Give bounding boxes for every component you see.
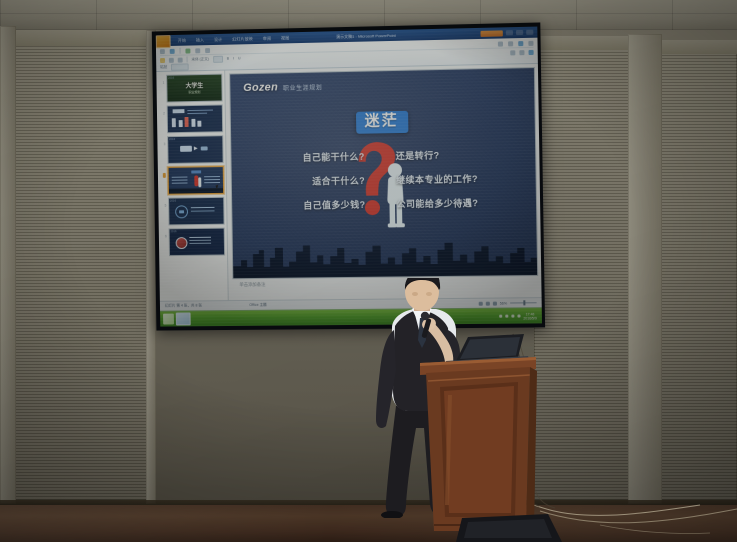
soffit-center-right xyxy=(528,36,636,50)
thumb-left-lines xyxy=(172,177,188,178)
thumb-symbol: ▶ xyxy=(194,146,198,152)
wooden-podium xyxy=(418,355,538,535)
pillar-right xyxy=(628,34,662,504)
logo-subtitle: 职业生涯规划 xyxy=(283,82,323,92)
current-slide[interactable]: Gozen 职业生涯规划 迷茫 xyxy=(230,68,537,278)
font-size-box[interactable] xyxy=(213,55,223,62)
status-theme[interactable]: Office 主题 xyxy=(249,303,266,308)
reset-icon[interactable] xyxy=(195,48,200,53)
ribbon-tab-slideshow[interactable]: 幻灯片放映 xyxy=(232,36,253,42)
taskbar-clock[interactable]: 17:46 2016/5/9 xyxy=(523,312,537,320)
thumb-image[interactable]: 2016 xyxy=(168,197,225,226)
thumb-line xyxy=(189,237,211,238)
thumb-line xyxy=(191,207,215,209)
floor-speaker xyxy=(452,512,568,542)
thumbnail-slide-3[interactable]: 3 2016 ▶ xyxy=(162,135,223,164)
paste-icon[interactable] xyxy=(160,49,165,54)
thumb-title-badge xyxy=(191,170,201,173)
question-line: 公司能给多少待遇? xyxy=(396,196,478,210)
window-title: 演示文稿1 - Microsoft PowerPoint xyxy=(336,32,396,39)
logo-brand: Gozen xyxy=(243,81,278,94)
thumb-headline-block xyxy=(173,109,185,113)
thumb-block xyxy=(201,146,208,150)
taskbar-item-powerpoint[interactable] xyxy=(156,35,171,48)
save-icon[interactable] xyxy=(160,57,165,62)
wall-panel-left xyxy=(14,44,148,500)
thumb-circle-icon xyxy=(175,205,188,218)
thumb-number: 5 xyxy=(163,198,166,208)
zoom-slider[interactable] xyxy=(510,302,536,303)
slide-stage: Gozen 职业生涯规划 迷茫 xyxy=(225,64,541,300)
minimize-icon[interactable] xyxy=(506,30,513,35)
thumbnail-slide-1[interactable]: 1 2016 大学生 职业规划 xyxy=(161,74,222,103)
thumb-number: 2 xyxy=(162,106,165,116)
thumbnail-slide-6[interactable]: 6 2016 xyxy=(164,228,225,257)
section-icon[interactable] xyxy=(205,48,210,53)
thumb-tag: 2016 xyxy=(169,138,175,141)
left-question-column: 自己能干什么? 适合干什么? 自己值多少钱? xyxy=(247,150,365,213)
contextual-tab-drawing-tools[interactable] xyxy=(480,30,502,37)
thumbnail-slide-5[interactable]: 5 2016 xyxy=(163,197,224,226)
thumb-image[interactable] xyxy=(168,166,225,195)
pillar-far-left xyxy=(0,26,16,504)
right-question-column: 还是转行? 继续本专业的工作? 公司能给多少待遇? xyxy=(396,147,524,210)
thumb-number: 1 xyxy=(161,75,164,85)
thumb-tag: 2016 xyxy=(171,230,177,233)
ribbon-tab-insert[interactable]: 插入 xyxy=(196,37,204,43)
arrange-icon[interactable] xyxy=(508,41,513,46)
thumb-number: 6 xyxy=(164,228,167,238)
editor-body: 1 2016 大学生 职业规划 2 xyxy=(156,64,541,301)
shapefill-icon[interactable] xyxy=(528,49,533,54)
bold-icon[interactable]: B xyxy=(227,57,229,61)
window-controls[interactable] xyxy=(480,29,533,36)
redo-icon[interactable] xyxy=(178,57,183,62)
thumb-line xyxy=(187,110,213,111)
ribbon-tab-design[interactable]: 设计 xyxy=(214,36,222,42)
tray-battery-icon[interactable] xyxy=(517,314,521,318)
wall-panel-right xyxy=(660,52,737,500)
system-tray[interactable]: 17:46 2016/5/9 xyxy=(499,312,539,320)
slide-thumbnail-panel[interactable]: 1 2016 大学生 职业规划 2 xyxy=(156,71,228,301)
thumb-image[interactable]: 2016 xyxy=(169,228,226,256)
thumb-image[interactable] xyxy=(167,104,223,133)
thumb-skyline xyxy=(169,188,223,194)
soffit-right xyxy=(654,40,737,54)
find-icon[interactable] xyxy=(528,40,533,45)
tray-input-icon[interactable] xyxy=(511,314,515,318)
ribbon-tab-review[interactable]: 审阅 xyxy=(263,35,271,41)
thumb-number: 3 xyxy=(162,136,165,146)
question-line: 自己能干什么? xyxy=(302,150,364,164)
status-slide-count: 幻灯片 第 4 张，共 8 张 xyxy=(165,303,202,308)
city-skyline-graphic xyxy=(233,233,537,279)
slide-logo: Gozen 职业生涯规划 xyxy=(243,80,322,94)
underline-icon[interactable]: U xyxy=(238,56,241,60)
maximize-icon[interactable] xyxy=(516,30,523,35)
clock-date: 2016/5/9 xyxy=(523,316,536,320)
question-line: 适合干什么? xyxy=(312,174,365,188)
clock-time: 17:46 xyxy=(523,312,536,316)
align-icon[interactable] xyxy=(510,50,515,55)
close-icon[interactable] xyxy=(526,30,533,35)
thumb-title: 大学生 xyxy=(185,81,203,90)
taskbar-item-explorer[interactable] xyxy=(176,312,191,325)
thumbnail-slide-4[interactable]: 4 xyxy=(163,166,224,195)
shapes-icon[interactable] xyxy=(498,41,503,46)
status-zoom-value: 56% xyxy=(500,301,507,305)
tray-volume-icon[interactable] xyxy=(505,314,509,318)
thumb-block xyxy=(180,146,192,152)
quick-styles-icon[interactable] xyxy=(518,41,523,46)
thumb-image[interactable]: 2016 大学生 职业规划 xyxy=(166,74,222,103)
slide-title-badge: 迷茫 xyxy=(355,111,407,133)
view-reading-icon[interactable] xyxy=(493,301,497,305)
lecture-hall-scene: 文件 开始 插入 设计 幻灯片放映 审阅 视图 演示文稿1 - Microsof… xyxy=(0,0,737,542)
question-line: 自己值多少钱? xyxy=(303,198,365,212)
font-name-label[interactable]: 宋体 (正文) xyxy=(191,57,209,62)
italic-icon[interactable]: I xyxy=(233,56,234,60)
avatar xyxy=(176,237,188,249)
search-input[interactable] xyxy=(171,63,189,70)
thumb-subtitle: 职业规划 xyxy=(189,90,201,94)
thumb-glyph-row xyxy=(172,117,202,127)
ribbon-tab-view[interactable]: 视图 xyxy=(281,35,289,41)
newslide-icon[interactable] xyxy=(170,48,175,53)
thumb-tag: 2016 xyxy=(170,200,176,203)
undo-icon[interactable] xyxy=(169,57,174,62)
soffit-left xyxy=(8,30,154,46)
thumb-right-lines xyxy=(204,176,220,177)
bullets-icon[interactable] xyxy=(519,50,524,55)
tray-network-icon[interactable] xyxy=(499,314,503,318)
ribbon-divider xyxy=(180,48,181,54)
question-line: 继续本专业的工作? xyxy=(396,172,478,186)
question-line: 还是转行? xyxy=(396,148,440,162)
start-button-icon[interactable] xyxy=(163,314,174,325)
selected-marker xyxy=(163,173,166,178)
layout-icon[interactable] xyxy=(185,48,190,53)
breadcrumb[interactable]: 粘贴 xyxy=(160,65,167,70)
thumb-figure xyxy=(198,177,201,187)
ribbon-tab-home[interactable]: 开始 xyxy=(178,37,186,43)
thumbnail-slide-2[interactable]: 2 xyxy=(162,104,223,133)
thumb-image[interactable]: 2016 ▶ xyxy=(167,135,224,164)
thumb-line xyxy=(187,112,207,113)
thumb-tag: 2016 xyxy=(168,77,174,80)
